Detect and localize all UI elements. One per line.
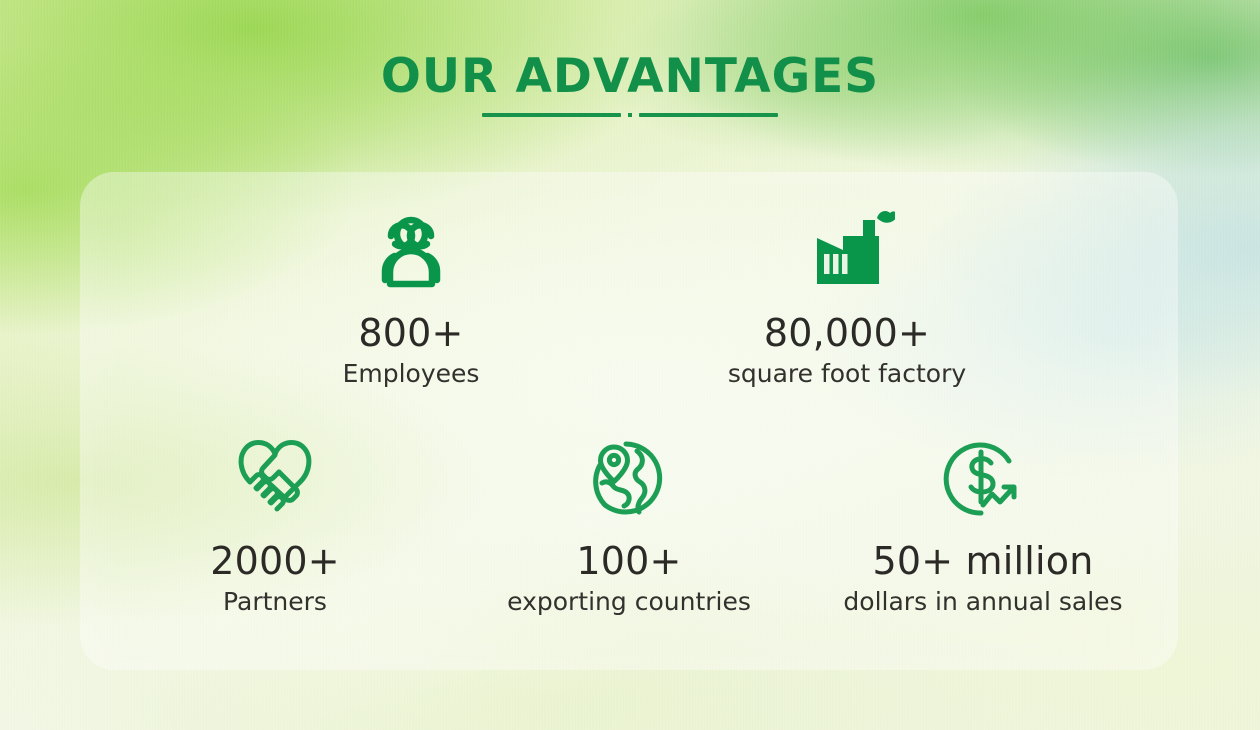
page-title: OUR ADVANTAGES [0, 52, 1260, 102]
stat-item-sales: 50+ million dollars in annual sales [806, 430, 1160, 617]
title-divider [482, 113, 778, 117]
stats-card: 800+ Employees 80,000+ [80, 172, 1178, 670]
stats-row-top: 800+ Employees 80,000+ [80, 202, 1178, 389]
advantages-infographic: OUR ADVANTAGES [0, 0, 1260, 730]
stat-value: 800+ [358, 312, 463, 355]
divider-right-rule [639, 113, 778, 117]
stat-value: 50+ million [872, 540, 1093, 583]
divider-center-dot [628, 113, 632, 117]
factory-icon [799, 202, 895, 298]
stat-value: 80,000+ [764, 312, 930, 355]
stat-item-countries: 100+ exporting countries [452, 430, 806, 617]
stat-label: square foot factory [728, 359, 966, 389]
stat-value: 2000+ [210, 540, 340, 583]
stats-row-bottom: 2000+ Partners [80, 430, 1178, 617]
handshake-heart-icon [226, 430, 324, 522]
stat-label: Partners [223, 587, 327, 617]
stat-value: 100+ [576, 540, 681, 583]
stat-label: Employees [343, 359, 480, 389]
globe-location-pin-icon [582, 430, 676, 522]
heading-block: OUR ADVANTAGES [0, 52, 1260, 117]
dollar-growth-icon [935, 430, 1031, 522]
stat-item-employees: 800+ Employees [193, 202, 629, 389]
stat-label: exporting countries [507, 587, 751, 617]
stat-item-partners: 2000+ Partners [98, 430, 452, 617]
stat-label: dollars in annual sales [843, 587, 1122, 617]
stat-item-factory: 80,000+ square foot factory [629, 202, 1065, 389]
divider-left-rule [482, 113, 621, 117]
people-group-icon [363, 202, 459, 298]
